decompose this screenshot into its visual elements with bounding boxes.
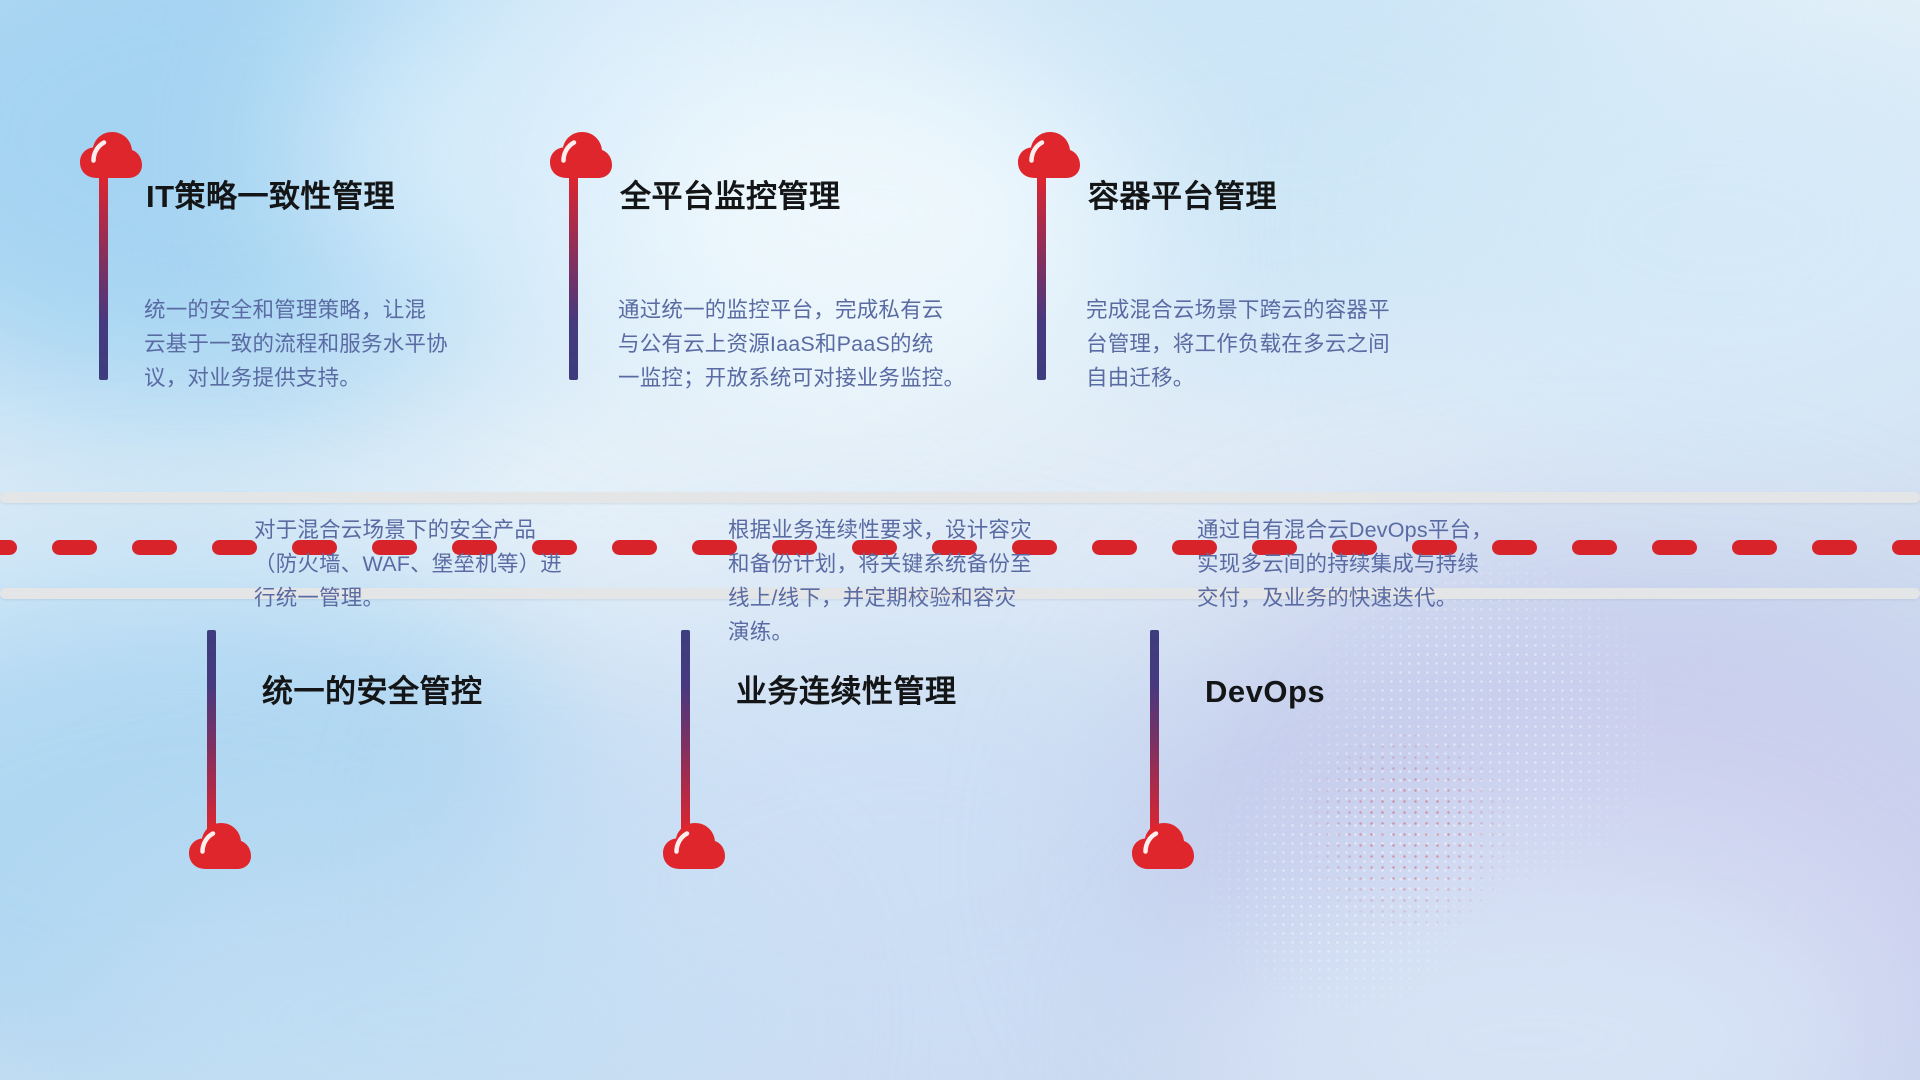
bottom-heading-3: DevOps [1205, 676, 1325, 707]
stem-gradient-line [1037, 175, 1046, 380]
bottom-heading-1: 统一的安全管控 [262, 676, 483, 707]
bottom-body-3: 通过自有混合云DevOps平台， 实现多云间的持续集成与持续 交付，及业务的快速… [1197, 513, 1597, 615]
top-body-2: 通过统一的监控平台，完成私有云 与公有云上资源IaaS和PaaS的统 一监控；开… [618, 293, 1018, 395]
road-dash [212, 540, 257, 555]
road-dash [1812, 540, 1857, 555]
cloud-icon [549, 131, 613, 181]
road-edge-line-top [0, 492, 1920, 503]
stem-gradient-line [207, 630, 216, 835]
road-dash [1652, 540, 1697, 555]
top-heading-2: 全平台监控管理 [620, 181, 841, 212]
road-dash [132, 540, 177, 555]
infographic-canvas: IT策略一致性管理 统一的安全和管理策略，让混 云基于一致的流程和服务水平协 议… [0, 0, 1920, 1080]
cloud-icon [188, 822, 252, 872]
cloud-icon [662, 822, 726, 872]
top-body-1: 统一的安全和管理策略，让混 云基于一致的流程和服务水平协 议，对业务提供支持。 [144, 293, 524, 395]
road-dash [0, 540, 17, 555]
road-dash [1732, 540, 1777, 555]
top-heading-1: IT策略一致性管理 [146, 181, 395, 212]
dot-texture-red [1300, 730, 1540, 930]
cloud-icon [79, 131, 143, 181]
road-dash [1892, 540, 1920, 555]
bottom-body-2: 根据业务连续性要求，设计容灾 和备份计划，将关键系统备份至 线上/线下，并定期校… [728, 513, 1128, 649]
bottom-heading-2: 业务连续性管理 [736, 676, 957, 707]
top-body-3: 完成混合云场景下跨云的容器平 台管理，将工作负载在多云之间 自由迁移。 [1086, 293, 1476, 395]
top-heading-3: 容器平台管理 [1088, 181, 1277, 212]
bottom-body-1: 对于混合云场景下的安全产品 （防火墙、WAF、堡垒机等）进 行统一管理。 [254, 513, 644, 615]
cloud-icon [1017, 131, 1081, 181]
stem-gradient-line [569, 175, 578, 380]
stem-gradient-line [99, 175, 108, 380]
stem-gradient-line [681, 630, 690, 835]
stem-gradient-line [1150, 630, 1159, 835]
road-dash [52, 540, 97, 555]
cloud-icon [1131, 822, 1195, 872]
